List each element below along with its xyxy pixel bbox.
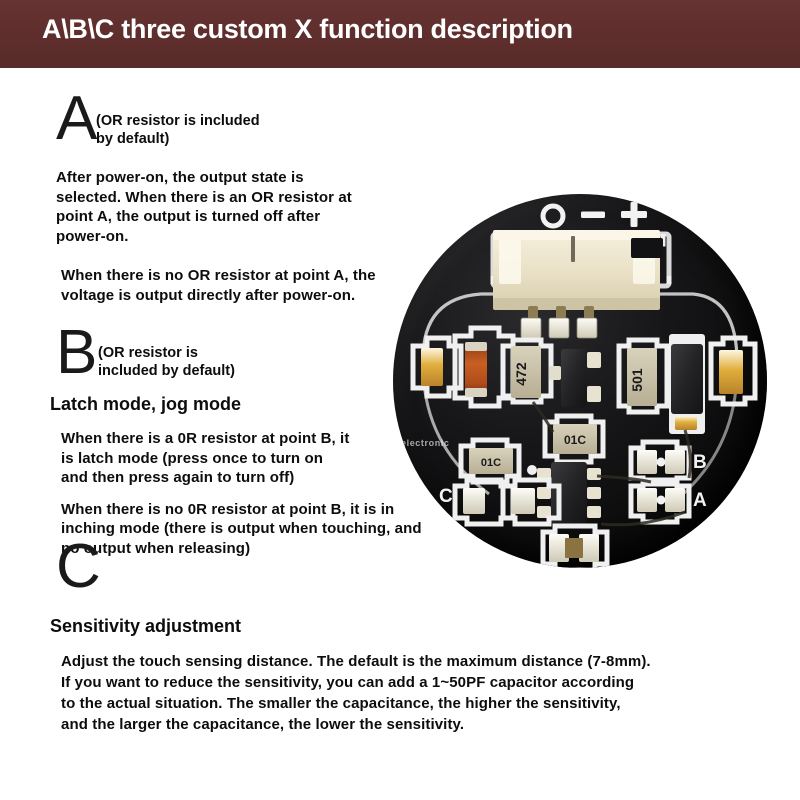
svg-text:472: 472 [513,362,529,386]
content-area: A (OR resistor is included by default) A… [0,68,800,800]
pad-label-b: B [693,452,707,474]
section-c-subtitle: Sensitivity adjustment [50,616,716,637]
section-a-paragraph-1: After power-on, the output state is sele… [56,168,386,246]
svg-text:01C: 01C [564,433,586,447]
touch-ic [527,462,601,524]
section-a: A (OR resistor is included by default) A… [56,102,386,305]
pcb-board: 472 501 [393,194,767,568]
section-a-note: (OR resistor is included by default) [96,112,260,148]
jst-connector [493,230,663,338]
bottom-resistor [543,526,607,568]
pcb-photo: 472 501 [393,194,767,568]
section-b: B (OR resistor is included by default) L… [56,336,426,558]
section-a-paragraph-2: When there is no OR resistor at point A,… [56,266,386,305]
section-c-letter: C [56,536,101,598]
section-a-heading: A (OR resistor is included by default) [56,102,386,156]
polarity-markings [543,202,647,227]
section-b-heading: B (OR resistor is included by default) [56,336,426,390]
led-left [421,348,443,386]
section-c-paragraph-1: Adjust the touch sensing distance. The d… [56,651,716,735]
pcb-artwork: 472 501 [393,194,767,568]
section-b-letter: B [56,322,97,384]
svg-text:01C: 01C [481,457,501,469]
pad-label-a: A [693,490,707,512]
page-title: A\B\C three custom X function descriptio… [42,14,573,45]
led-right [719,350,743,394]
component-group-left: 472 [413,328,551,406]
section-b-note: (OR resistor is included by default) [98,344,235,380]
pad-label-c: C [439,486,453,508]
ic-right [671,344,703,414]
header-bar: A\B\C three custom X function descriptio… [0,0,800,68]
section-b-subtitle: Latch mode, jog mode [50,394,426,415]
component-group-right [669,334,755,434]
section-c: C Sensitivity adjustment Adjust the touc… [56,550,716,735]
transistor-center [549,349,601,407]
section-a-letter: A [56,88,97,150]
resistor-501-group: 501 [619,340,667,412]
svg-text:501: 501 [629,368,645,392]
capacitor-01c-center: 01C [545,416,603,462]
section-b-paragraph-1: When there is a 0R resistor at point B, … [56,429,426,488]
capacitor-01c-left: 01C [461,440,519,482]
